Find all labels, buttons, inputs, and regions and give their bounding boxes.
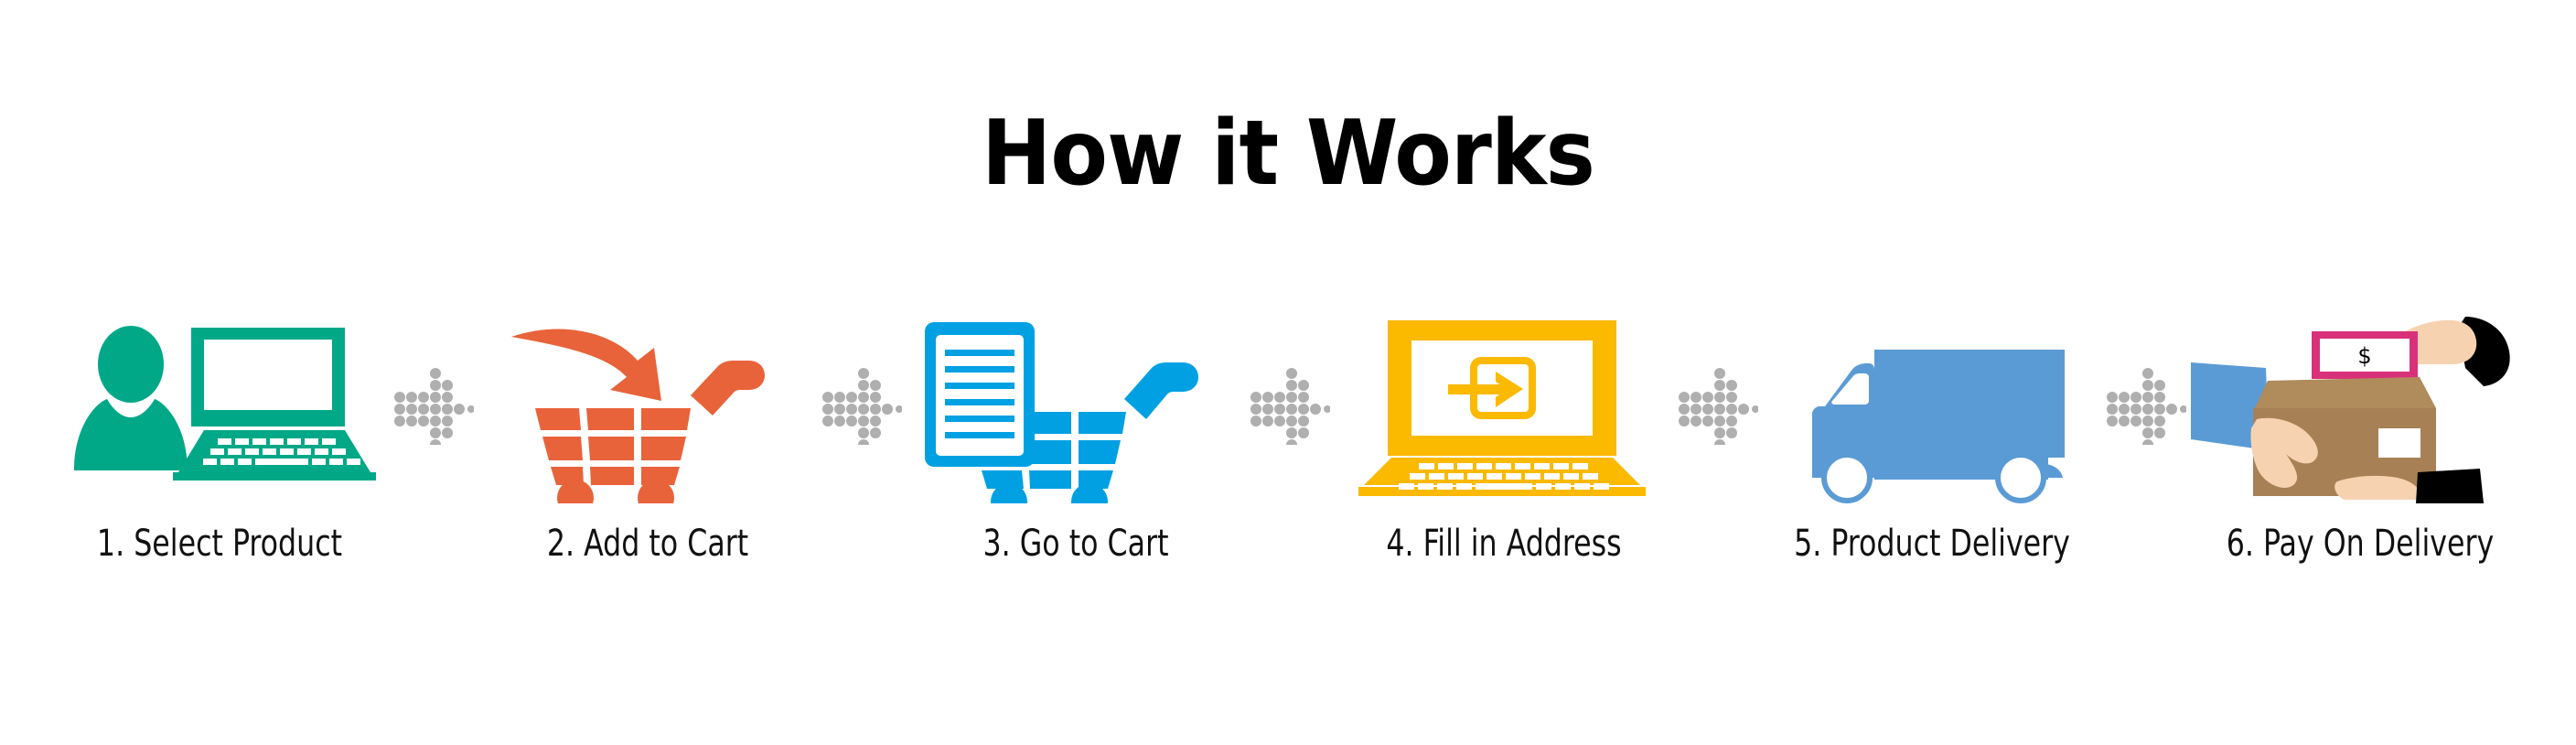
- dotted-right-arrow-icon: [2104, 311, 2188, 503]
- dotted-right-arrow-icon: [392, 311, 476, 503]
- step-label-4: 4. Fill in Address: [1355, 524, 1653, 564]
- dotted-right-arrow-icon: [820, 311, 904, 503]
- step-1-select-product[interactable]: 1. Select Product: [50, 311, 389, 622]
- cart-with-document-icon: [907, 311, 1245, 503]
- step-label-5: 5. Product Delivery: [1783, 524, 2081, 564]
- infographic-page: How it Works: [0, 0, 2576, 745]
- person-with-laptop-glyph: [50, 311, 389, 503]
- dotted-arrow-glyph: [821, 368, 902, 445]
- step-5-product-delivery[interactable]: 5. Product Delivery: [1763, 311, 2101, 622]
- dotted-arrow-glyph: [1678, 368, 1758, 445]
- dotted-right-arrow-icon: [1248, 311, 1332, 503]
- hands-exchange-box-and-cash-glyph: $: [2191, 311, 2529, 503]
- cart-with-arrow-icon: [478, 311, 817, 503]
- step-4-fill-in-address[interactable]: 4. Fill in Address: [1335, 311, 1673, 622]
- step-label-1: 1. Select Product: [70, 524, 369, 564]
- dotted-right-arrow-icon: [1676, 311, 1760, 503]
- step-label-6: 6. Pay On Delivery: [2211, 524, 2509, 564]
- dotted-arrow-glyph: [1250, 368, 1330, 445]
- dotted-arrow-glyph: [393, 368, 474, 445]
- delivery-truck-glyph: [1763, 311, 2101, 503]
- laptop-login-icon: [1335, 311, 1673, 503]
- dotted-arrow-glyph: [2106, 368, 2186, 445]
- step-label-2: 2. Add to Cart: [499, 524, 797, 564]
- step-3-go-to-cart[interactable]: 3. Go to Cart: [907, 311, 1245, 622]
- cash-dollar-symbol: $: [2357, 343, 2371, 369]
- delivery-truck-icon: [1763, 311, 2101, 503]
- laptop-login-glyph: [1335, 311, 1673, 503]
- step-2-add-to-cart[interactable]: 2. Add to Cart: [478, 311, 817, 622]
- person-with-laptop-icon: [50, 311, 389, 503]
- cart-with-arrow-glyph: [478, 311, 817, 503]
- cart-with-document-glyph: [907, 311, 1245, 503]
- step-6-pay-on-delivery[interactable]: $: [2191, 311, 2529, 622]
- steps-row: 1. Select Product: [50, 311, 2529, 622]
- page-title: How it Works: [91, 108, 2486, 200]
- step-label-3: 3. Go to Cart: [927, 524, 1225, 564]
- hands-exchange-box-and-cash-icon: $: [2191, 311, 2529, 503]
